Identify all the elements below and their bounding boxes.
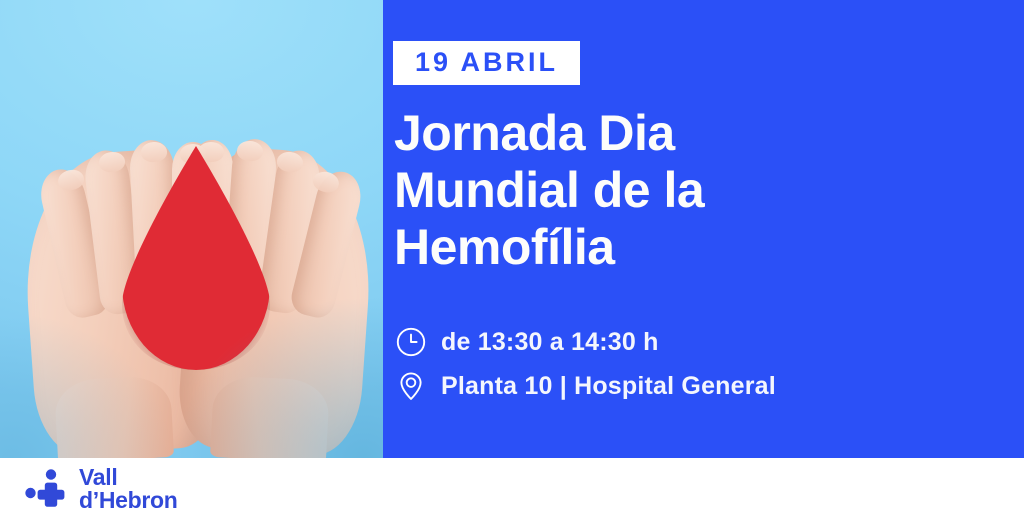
cross-person-icon: [24, 466, 70, 512]
date-badge: 19 ABRIL: [393, 41, 580, 85]
vall-dhebron-logo[interactable]: Vall d’Hebron: [24, 466, 178, 512]
logo-wordmark: Vall d’Hebron: [79, 466, 178, 512]
content-panel: 19 ABRIL Jornada Dia Mundial de la Hemof…: [383, 0, 1024, 458]
page-title: Jornada Dia Mundial de la Hemofília: [394, 105, 1014, 276]
event-banner: 19 ABRIL Jornada Dia Mundial de la Hemof…: [0, 0, 1024, 528]
event-location-text: Planta 10 | Hospital General: [441, 372, 776, 401]
event-details: de 13:30 a 14:30 h Planta 10 | Hospital …: [394, 320, 994, 408]
event-time-row: de 13:30 a 14:30 h: [394, 320, 994, 364]
clock-icon: [394, 325, 428, 359]
hands-blood-drop-photo: [0, 0, 383, 458]
map-pin-icon: [394, 369, 428, 403]
footer-bar: Vall d’Hebron: [0, 458, 1024, 528]
headline-line-2: Mundial de la: [394, 162, 1014, 219]
headline-line-3: Hemofília: [394, 219, 1014, 276]
logo-wordmark-line-2: d’Hebron: [79, 487, 178, 513]
headline-line-1: Jornada Dia: [394, 105, 1014, 162]
event-location-row: Planta 10 | Hospital General: [394, 364, 994, 408]
event-time-text: de 13:30 a 14:30 h: [441, 328, 659, 357]
photo-vignette: [0, 0, 383, 458]
